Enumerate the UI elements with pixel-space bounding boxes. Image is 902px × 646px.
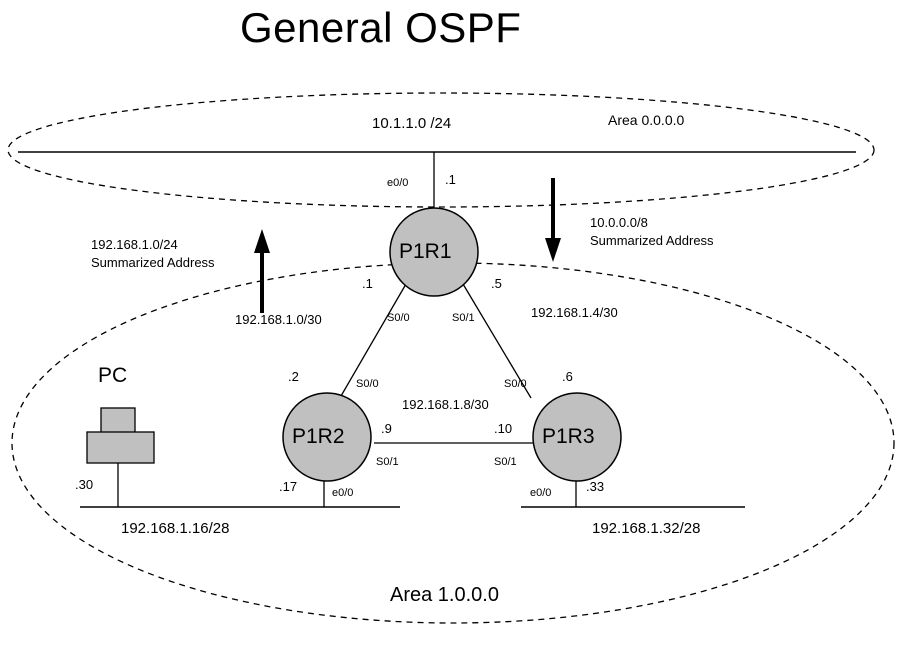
diagram-canvas: General OSPF 10.1.1.0 /24 Area 0.0.0.0 e… [0,0,902,646]
summary-up-prefix: 192.168.1.0/24 [91,238,178,253]
r2-s0-1-host-label: .9 [381,422,392,437]
r1-s0-0-host-label: .1 [362,277,373,292]
r2-s0-1-port-label: S0/1 [376,456,399,468]
router-p1r3-label: P1R3 [542,425,595,449]
summary-down-arrow-head [545,238,561,262]
diagram-vector-layer [0,0,902,646]
pc-monitor-icon [101,408,135,433]
r3-s0-0-port-label: S0/0 [504,378,527,390]
summary-down-caption: Summarized Address [590,234,714,249]
r1-e0-0-port-label: e0/0 [387,177,408,189]
summary-up-arrow-head [254,229,270,253]
r3-s0-1-port-label: S0/1 [494,456,517,468]
page-title: General OSPF [240,4,521,51]
router-p1r2-label: P1R2 [292,425,345,449]
r3-s0-0-host-label: .6 [562,370,573,385]
r1-r2-link-label: 192.168.1.0/30 [235,313,322,328]
area-backbone-label: Area 0.0.0.0 [608,113,684,129]
r3-s0-1-host-label: .10 [494,422,512,437]
r2-s0-0-host-label: .2 [288,370,299,385]
pc-base-icon [87,432,154,463]
r3-e0-0-port-label: e0/0 [530,487,551,499]
router-p1r1-label: P1R1 [399,240,452,264]
summary-up-caption: Summarized Address [91,256,215,271]
r1-s0-1-port-label: S0/1 [452,312,475,324]
r1-s0-1-host-label: .5 [491,277,502,292]
r2-e0-0-host-label: .17 [279,480,297,495]
r1-s0-0-port-label: S0/0 [387,312,410,324]
area-one-label: Area 1.0.0.0 [390,584,499,606]
backbone-lan-label: 10.1.1.0 /24 [372,116,451,133]
area-backbone-ellipse [8,93,874,207]
r1-e0-0-host-label: .1 [445,173,456,188]
r2-r3-link-label: 192.168.1.8/30 [402,398,489,413]
r1-r3-link-label: 192.168.1.4/30 [531,306,618,321]
r2-s0-0-port-label: S0/0 [356,378,379,390]
r2-e0-0-port-label: e0/0 [332,487,353,499]
r3-e0-0-host-label: .33 [586,480,604,495]
pc-nic-host-label: .30 [75,478,93,493]
r3-lan-label: 192.168.1.32/28 [592,521,700,538]
summary-down-prefix: 10.0.0.0/8 [590,216,648,231]
r2-lan-label: 192.168.1.16/28 [121,521,229,538]
host-pc-label: PC [98,364,127,388]
